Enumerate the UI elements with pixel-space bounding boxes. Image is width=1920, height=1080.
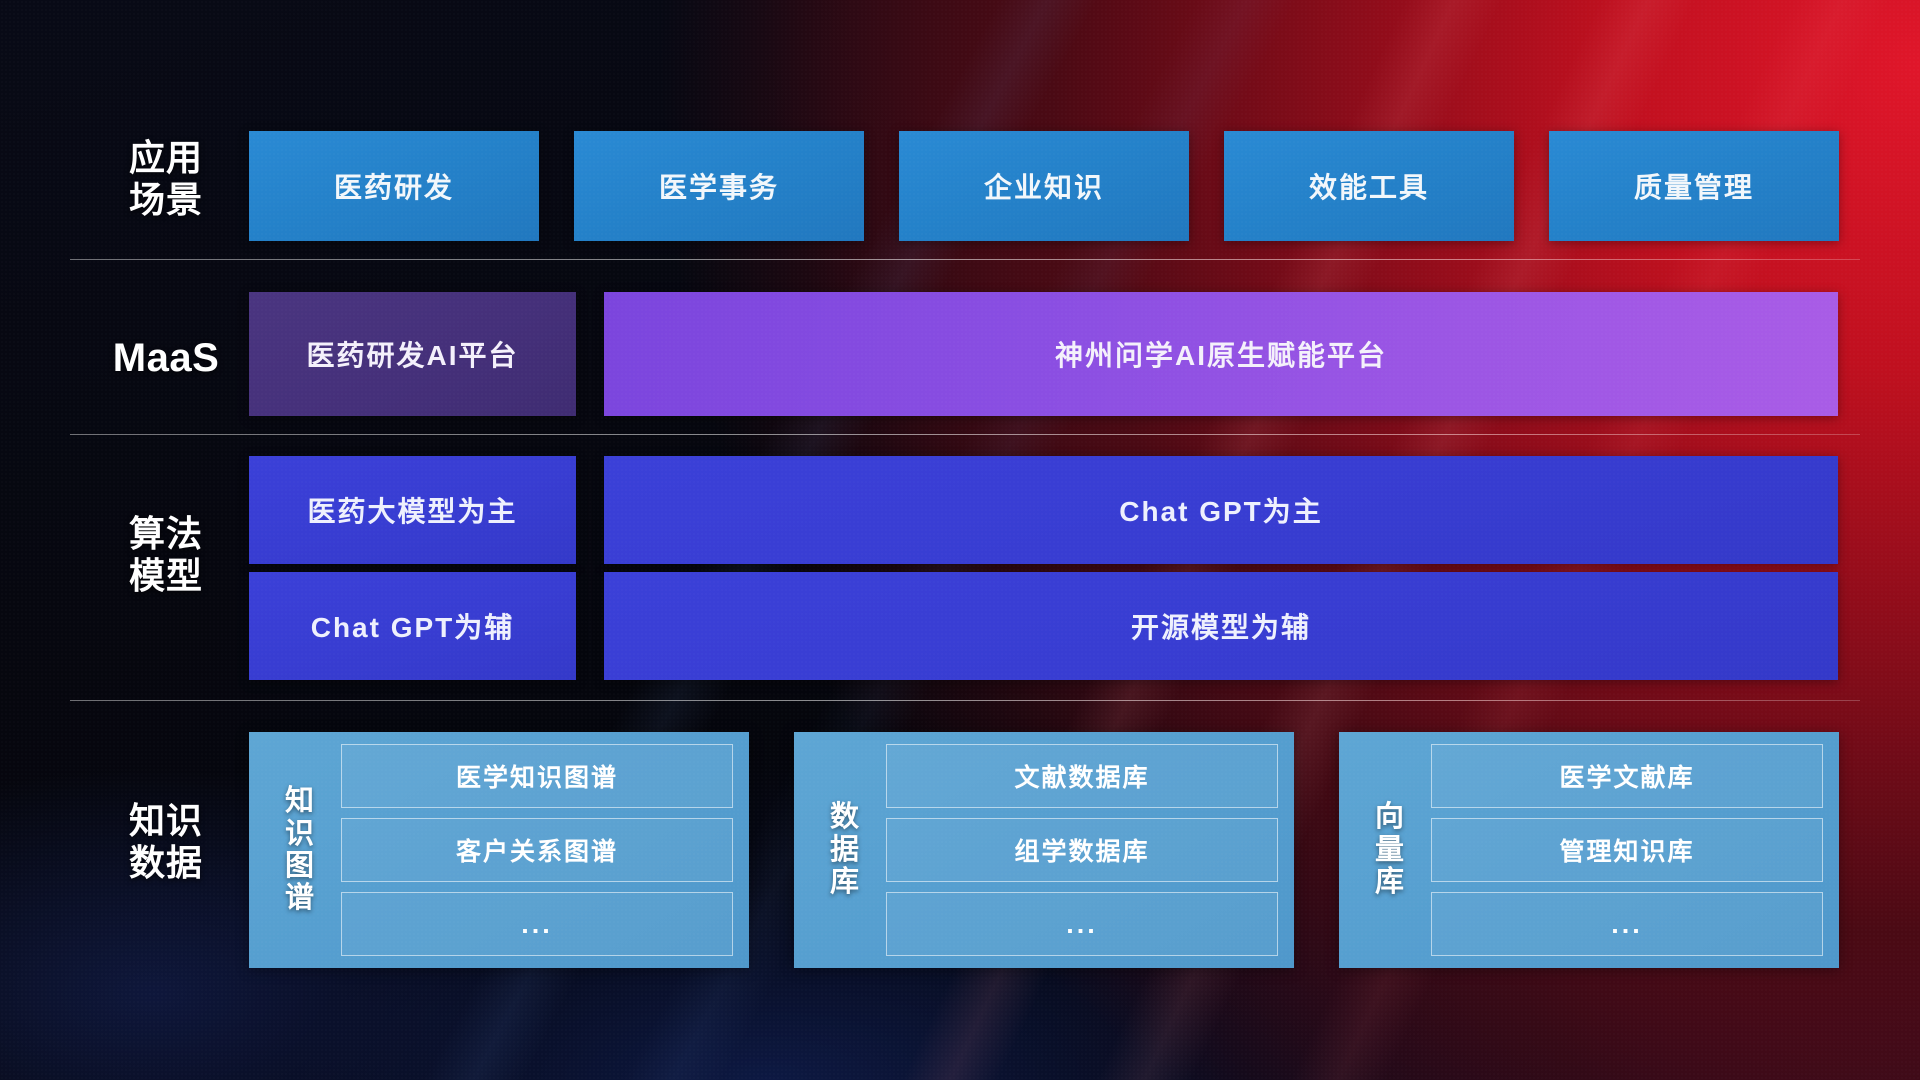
divider-algorithm-knowledge — [70, 700, 1860, 701]
algo-box-medicine-large-model-primary[interactable]: 医药大模型为主 — [249, 456, 576, 564]
knowledge-item-label: ... — [1611, 909, 1643, 940]
algo-box-label: Chat GPT为主 — [1119, 490, 1323, 530]
knowledge-group-database[interactable]: 数 据 库 文献数据库 组学数据库 ... — [794, 732, 1294, 968]
app-box-label: 医学事务 — [659, 166, 779, 206]
algo-box-label: 医药大模型为主 — [307, 490, 517, 530]
knowledge-item-more[interactable]: ... — [1431, 892, 1823, 956]
vertical-label-char: 库 — [1349, 866, 1431, 898]
knowledge-group-vertical-label: 向 量 库 — [1349, 801, 1431, 898]
vertical-label-char: 量 — [1349, 834, 1431, 866]
app-box-label: 质量管理 — [1634, 166, 1754, 206]
knowledge-item[interactable]: 文献数据库 — [886, 744, 1278, 808]
knowledge-item[interactable]: 组学数据库 — [886, 818, 1278, 882]
knowledge-item-more[interactable]: ... — [886, 892, 1278, 956]
knowledge-group-vertical-label: 知 识 图 谱 — [259, 785, 341, 915]
algo-box-opensource-model-secondary[interactable]: 开源模型为辅 — [604, 572, 1838, 680]
knowledge-group-knowledge-graph[interactable]: 知 识 图 谱 医学知识图谱 客户关系图谱 ... — [249, 732, 749, 968]
knowledge-item[interactable]: 客户关系图谱 — [341, 818, 733, 882]
vertical-label-char: 数 — [804, 801, 886, 833]
row-label-algorithm-models: 算法 模型 — [86, 513, 246, 598]
app-box-label: 医药研发 — [334, 166, 454, 206]
vertical-label-char: 知 — [259, 785, 341, 817]
vertical-label-char: 谱 — [259, 882, 341, 914]
algo-box-label: 开源模型为辅 — [1131, 606, 1311, 646]
vertical-label-char: 识 — [259, 818, 341, 850]
app-box-enterprise-knowledge[interactable]: 企业知识 — [899, 131, 1189, 241]
knowledge-item-label: ... — [521, 909, 553, 940]
row-label-application-scenarios: 应用 场景 — [86, 137, 246, 222]
maas-box-medicine-rd-ai-platform[interactable]: 医药研发AI平台 — [249, 292, 576, 416]
divider-maas-algorithm — [70, 434, 1860, 435]
row-label-knowledge-data: 知识 数据 — [86, 800, 246, 885]
knowledge-item-label: 管理知识库 — [1559, 832, 1694, 868]
architecture-diagram: 应用 场景 医药研发 医学事务 企业知识 效能工具 质量管理 MaaS 医药研发… — [0, 0, 1920, 1080]
vertical-label-char: 图 — [259, 850, 341, 882]
row-label-maas: MaaS — [86, 335, 246, 382]
app-box-label: 效能工具 — [1309, 166, 1429, 206]
knowledge-item-more[interactable]: ... — [341, 892, 733, 956]
knowledge-item-label: 组学数据库 — [1014, 832, 1149, 868]
knowledge-item-list: 医学知识图谱 客户关系图谱 ... — [341, 744, 733, 956]
knowledge-item-list: 医学文献库 管理知识库 ... — [1431, 744, 1823, 956]
maas-box-shenzhou-wenxue-platform[interactable]: 神州问学AI原生赋能平台 — [604, 292, 1838, 416]
knowledge-item-list: 文献数据库 组学数据库 ... — [886, 744, 1278, 956]
knowledge-item[interactable]: 管理知识库 — [1431, 818, 1823, 882]
maas-box-label: 医药研发AI平台 — [306, 334, 518, 374]
knowledge-item-label: 医学知识图谱 — [456, 758, 618, 794]
algo-box-label: Chat GPT为辅 — [311, 606, 515, 646]
app-box-label: 企业知识 — [984, 166, 1104, 206]
algo-box-chatgpt-secondary[interactable]: Chat GPT为辅 — [249, 572, 576, 680]
knowledge-item-label: ... — [1066, 909, 1098, 940]
knowledge-group-vector-store[interactable]: 向 量 库 医学文献库 管理知识库 ... — [1339, 732, 1839, 968]
knowledge-item-label: 客户关系图谱 — [456, 832, 618, 868]
knowledge-item[interactable]: 医学知识图谱 — [341, 744, 733, 808]
app-box-medicine-rd[interactable]: 医药研发 — [249, 131, 539, 241]
maas-box-label: 神州问学AI原生赋能平台 — [1055, 334, 1387, 374]
app-box-quality-management[interactable]: 质量管理 — [1549, 131, 1839, 241]
app-box-efficiency-tools[interactable]: 效能工具 — [1224, 131, 1514, 241]
knowledge-item-label: 医学文献库 — [1559, 758, 1694, 794]
vertical-label-char: 向 — [1349, 801, 1431, 833]
vertical-label-char: 据 — [804, 834, 886, 866]
knowledge-item[interactable]: 医学文献库 — [1431, 744, 1823, 808]
knowledge-group-vertical-label: 数 据 库 — [804, 801, 886, 898]
divider-application-maas — [70, 259, 1860, 260]
knowledge-item-label: 文献数据库 — [1014, 758, 1149, 794]
app-box-medical-affairs[interactable]: 医学事务 — [574, 131, 864, 241]
vertical-label-char: 库 — [804, 866, 886, 898]
algo-box-chatgpt-primary[interactable]: Chat GPT为主 — [604, 456, 1838, 564]
